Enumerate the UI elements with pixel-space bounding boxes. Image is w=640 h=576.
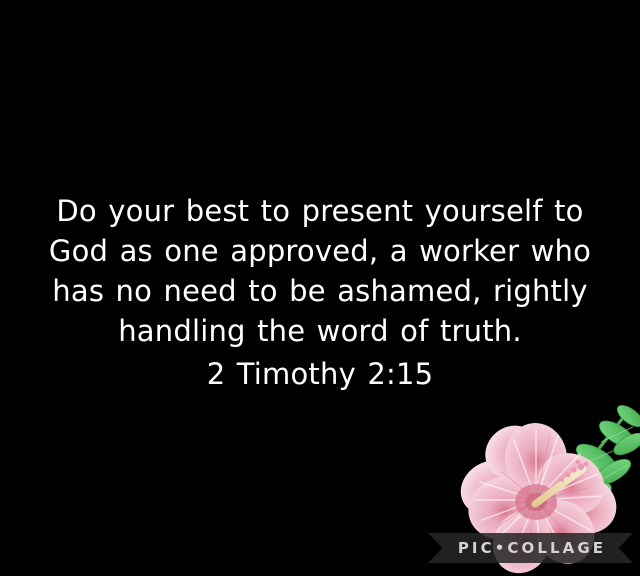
pic-collage-watermark: PIC•COLLAGE <box>428 533 633 563</box>
verse-line-2: God as one approved, a worker who <box>0 231 640 271</box>
verse-line-3: has no need to be ashamed, rightly <box>0 271 640 311</box>
verse-reference: 2 Timothy 2:15 <box>0 354 640 394</box>
watermark-label: PIC•COLLAGE <box>428 533 633 563</box>
verse-text-block: Do your best to present yourself to God … <box>0 191 640 394</box>
verse-line-4: handling the word of truth. <box>0 311 640 351</box>
collage-canvas: Do your best to present yourself to God … <box>0 0 640 576</box>
verse-line-1: Do your best to present yourself to <box>0 191 640 231</box>
